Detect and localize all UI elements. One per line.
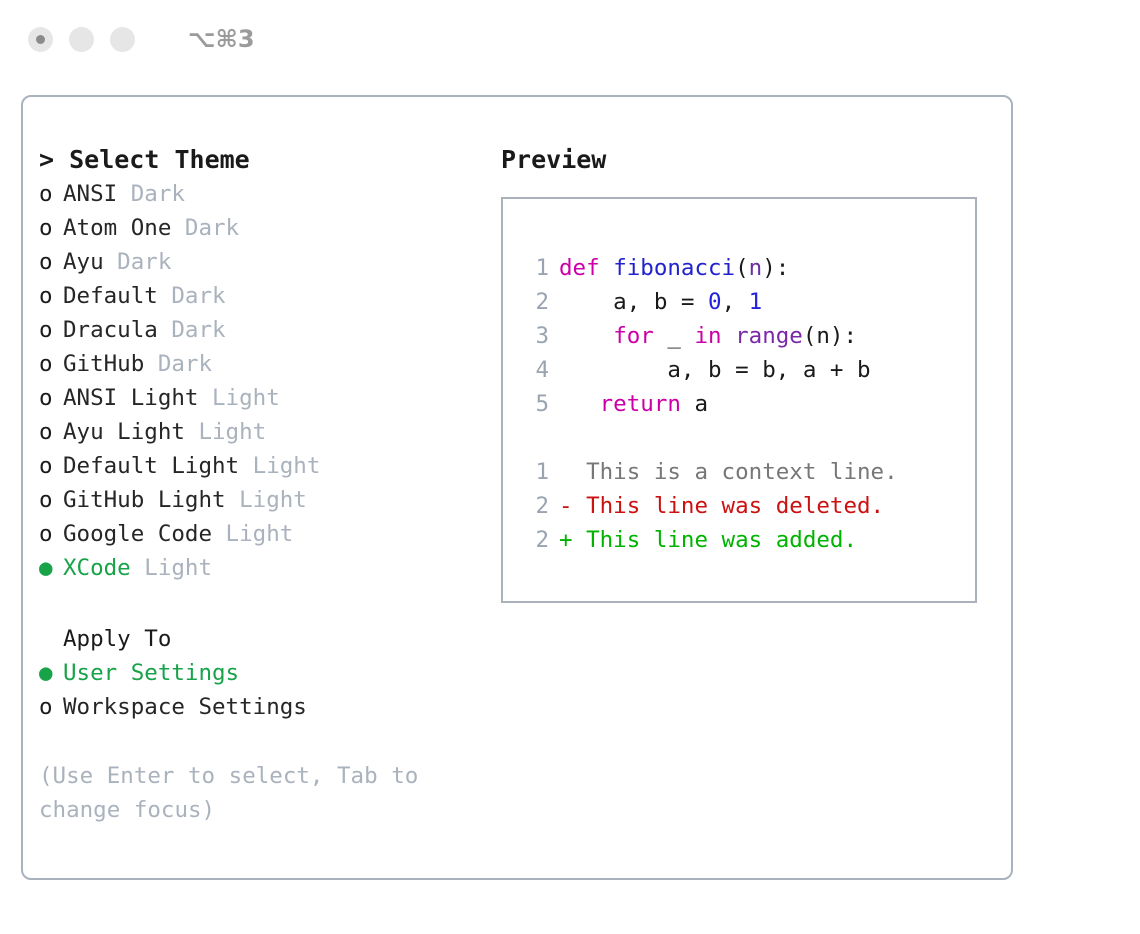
theme-option-kind: Light (131, 551, 212, 585)
line-number: 1 (523, 251, 549, 285)
select-theme-header: > Select Theme (39, 143, 493, 177)
keyboard-shortcut-label: ⌥⌘3 (188, 25, 255, 53)
theme-option-name: ANSI (63, 177, 117, 211)
code-token (559, 391, 600, 417)
radio-unselected-icon[interactable]: o (39, 415, 63, 449)
theme-option-kind: Light (226, 483, 307, 517)
theme-list[interactable]: oANSI DarkoAtom One DarkoAyu DarkoDefaul… (39, 177, 493, 585)
code-token: def (559, 255, 613, 281)
code-line: 5 return a (523, 387, 975, 421)
theme-option-kind: Dark (104, 245, 172, 279)
diff-line-content: This is a context line. (559, 455, 898, 489)
code-line-content: for _ in range(n): (559, 319, 857, 353)
code-token: n (749, 255, 763, 281)
code-token: a, b = (559, 289, 708, 315)
diff-line-content: + This line was added. (559, 523, 857, 557)
code-line-content: def fibonacci(n): (559, 251, 789, 285)
code-line: 1def fibonacci(n): (523, 251, 975, 285)
theme-option-name: GitHub Light (63, 483, 226, 517)
traffic-light-minimize[interactable] (69, 27, 94, 52)
theme-option-name: Ayu Light (63, 415, 185, 449)
radio-unselected-icon[interactable]: o (39, 313, 63, 347)
line-number: 2 (523, 523, 549, 557)
apply-to-option[interactable]: oWorkspace Settings (39, 690, 493, 724)
code-token: a, b = b, a + b (559, 357, 871, 383)
theme-option-kind: Dark (158, 279, 226, 313)
theme-option[interactable]: oGitHub Dark (39, 347, 493, 381)
diff-line: 2- This line was deleted. (523, 489, 975, 523)
code-token: _ (654, 323, 695, 349)
theme-option-kind: Dark (117, 177, 185, 211)
theme-option[interactable]: oAtom One Dark (39, 211, 493, 245)
radio-unselected-icon[interactable]: o (39, 449, 63, 483)
theme-option[interactable]: oDefault Light Light (39, 449, 493, 483)
keyboard-hint-text: (Use Enter to select, Tab to change focu… (39, 759, 459, 827)
theme-option[interactable]: oDracula Dark (39, 313, 493, 347)
app-window: ⌥⌘3 > Select Theme oANSI DarkoAtom One D… (0, 0, 1140, 934)
theme-option[interactable]: oAyu Dark (39, 245, 493, 279)
theme-option-name: Google Code (63, 517, 212, 551)
theme-option-name: GitHub (63, 347, 144, 381)
code-token: a (681, 391, 708, 417)
code-token: for (613, 323, 654, 349)
apply-to-list[interactable]: ●User SettingsoWorkspace Settings (39, 656, 493, 724)
code-token (722, 323, 736, 349)
theme-option-kind: Dark (171, 211, 239, 245)
theme-option-name: ANSI Light (63, 381, 198, 415)
theme-option-name: Atom One (63, 211, 171, 245)
code-token: range (735, 323, 803, 349)
theme-option[interactable]: ●XCode Light (39, 551, 493, 585)
line-number: 1 (523, 455, 549, 489)
code-token: ): (762, 255, 789, 281)
apply-to-title: Apply To (39, 622, 493, 656)
radio-unselected-icon[interactable]: o (39, 381, 63, 415)
code-diff-separator (523, 421, 975, 455)
code-token: return (600, 391, 681, 417)
theme-selector-column: > Select Theme oANSI DarkoAtom One Darko… (23, 97, 493, 878)
code-token: , (722, 289, 749, 315)
traffic-light-close[interactable] (28, 27, 53, 52)
theme-option[interactable]: oAyu Light Light (39, 415, 493, 449)
radio-unselected-icon[interactable]: o (39, 279, 63, 313)
line-number: 5 (523, 387, 549, 421)
diff-line: 1 This is a context line. (523, 455, 975, 489)
diff-line-content: - This line was deleted. (559, 489, 884, 523)
theme-option[interactable]: oDefault Dark (39, 279, 493, 313)
line-number: 2 (523, 285, 549, 319)
theme-option-kind: Light (239, 449, 320, 483)
radio-unselected-icon[interactable]: o (39, 347, 63, 381)
code-line: 2 a, b = 0, 1 (523, 285, 975, 319)
code-sample: 1def fibonacci(n):2 a, b = 0, 13 for _ i… (523, 251, 975, 421)
line-number: 3 (523, 319, 549, 353)
theme-option-name: Ayu (63, 245, 104, 279)
preview-title: Preview (501, 143, 1011, 177)
radio-unselected-icon[interactable]: o (39, 483, 63, 517)
theme-option-name: XCode (63, 551, 131, 585)
diff-sample: 1 This is a context line.2- This line wa… (523, 455, 975, 557)
code-line-content: return a (559, 387, 708, 421)
theme-option-kind: Light (212, 517, 293, 551)
apply-to-option[interactable]: ●User Settings (39, 656, 493, 690)
preview-box: 1def fibonacci(n):2 a, b = 0, 13 for _ i… (501, 197, 977, 603)
radio-selected-icon[interactable]: ● (39, 551, 63, 585)
apply-to-option-name: User Settings (63, 656, 239, 690)
code-line-content: a, b = b, a + b (559, 353, 871, 387)
radio-unselected-icon[interactable]: o (39, 245, 63, 279)
theme-option-name: Dracula (63, 313, 158, 347)
code-token: (n): (803, 323, 857, 349)
radio-selected-icon[interactable]: ● (39, 656, 63, 690)
theme-option[interactable]: oGitHub Light Light (39, 483, 493, 517)
traffic-light-maximize[interactable] (110, 27, 135, 52)
line-number: 4 (523, 353, 549, 387)
code-line: 4 a, b = b, a + b (523, 353, 975, 387)
code-line-content: a, b = 0, 1 (559, 285, 762, 319)
code-token (559, 323, 613, 349)
radio-unselected-icon[interactable]: o (39, 517, 63, 551)
main-panel: > Select Theme oANSI DarkoAtom One Darko… (21, 95, 1013, 880)
apply-to-option-name: Workspace Settings (63, 690, 307, 724)
theme-option-kind: Light (198, 381, 279, 415)
title-bar: ⌥⌘3 (0, 0, 1140, 78)
radio-unselected-icon[interactable]: o (39, 177, 63, 211)
theme-option-kind: Dark (144, 347, 212, 381)
theme-option-name: Default (63, 279, 158, 313)
theme-option[interactable]: oANSI Light Light (39, 381, 493, 415)
theme-option-name: Default Light (63, 449, 239, 483)
code-token: in (694, 323, 721, 349)
theme-option[interactable]: oANSI Dark (39, 177, 493, 211)
code-token: fibonacci (613, 255, 735, 281)
theme-option[interactable]: oGoogle Code Light (39, 517, 493, 551)
diff-line: 2+ This line was added. (523, 523, 975, 557)
line-number: 2 (523, 489, 549, 523)
code-token: 1 (749, 289, 763, 315)
code-line: 3 for _ in range(n): (523, 319, 975, 353)
code-token: ( (735, 255, 749, 281)
preview-column: Preview 1def fibonacci(n):2 a, b = 0, 13… (493, 97, 1011, 878)
theme-option-kind: Light (185, 415, 266, 449)
apply-to-section: Apply To ●User SettingsoWorkspace Settin… (39, 622, 493, 724)
radio-unselected-icon[interactable]: o (39, 211, 63, 245)
radio-unselected-icon[interactable]: o (39, 690, 63, 724)
code-token: 0 (708, 289, 722, 315)
theme-option-kind: Dark (158, 313, 226, 347)
